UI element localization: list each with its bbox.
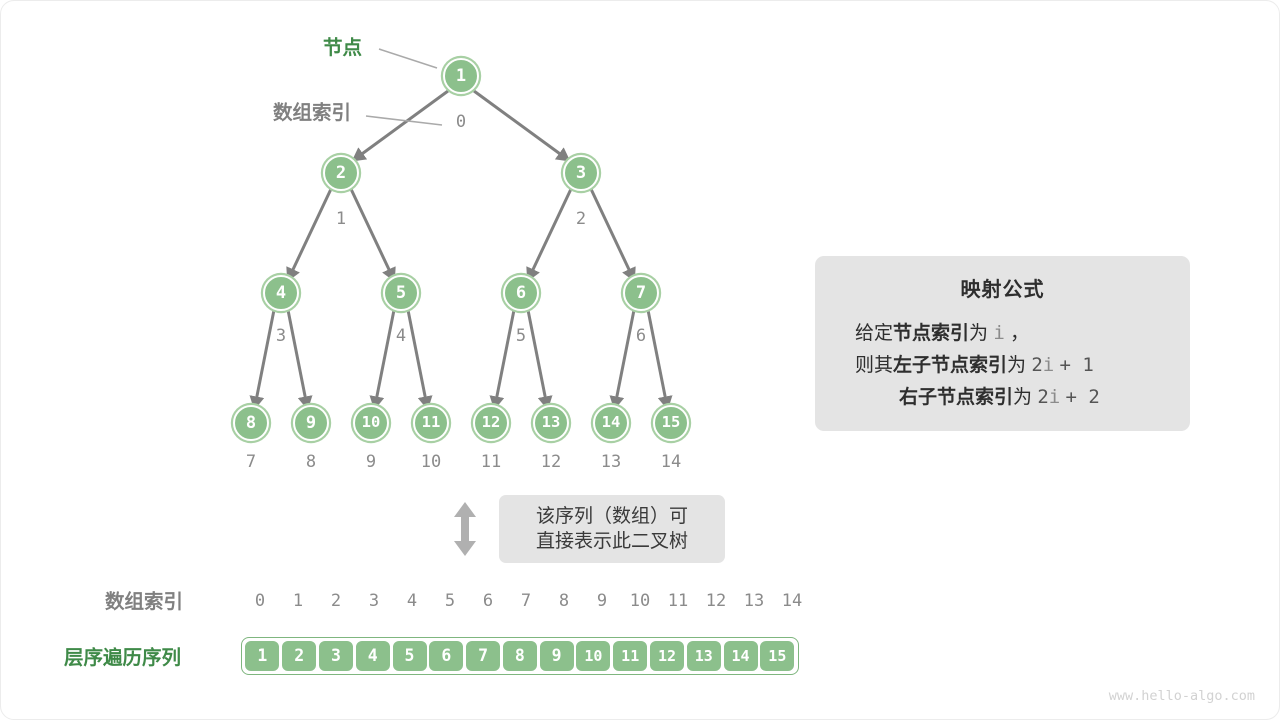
array-index-5: 5 xyxy=(431,593,469,610)
note-line-1: 该序列（数组）可 xyxy=(536,504,688,529)
formula-line3-mid: 为 xyxy=(1013,387,1032,408)
formula-line1-var: i xyxy=(993,322,1004,344)
tree-node-7[interactable]: 7 xyxy=(623,275,659,311)
array-index-2: 2 xyxy=(317,593,355,610)
tree-node-3[interactable]: 3 xyxy=(563,155,599,191)
formula-line2-bold: 左子节点索引 xyxy=(893,355,1007,376)
array-cell-2[interactable]: 3 xyxy=(318,640,354,672)
array-index-0: 0 xyxy=(241,593,279,610)
formula-line1-pre: 给定 xyxy=(855,323,893,344)
formula-line2-var: i xyxy=(1043,354,1054,376)
formula-line3-term: + 2 xyxy=(1066,386,1100,408)
tree-node-index-10: 10 xyxy=(411,454,451,471)
formula-line2-coeff: 2 xyxy=(1031,354,1042,376)
level-order-sequence-label: 层序遍历序列 xyxy=(64,649,181,669)
formula-line1-mid: 为 xyxy=(969,323,988,344)
tree-node-index-1: 1 xyxy=(321,211,361,228)
array-cell-11[interactable]: 12 xyxy=(649,640,685,672)
array-cell-0[interactable]: 1 xyxy=(244,640,280,672)
formula-line1-post: ， xyxy=(1010,323,1029,344)
tree-node-index-9: 9 xyxy=(351,454,391,471)
array-cell-13[interactable]: 14 xyxy=(723,640,759,672)
array-cell-14[interactable]: 15 xyxy=(759,640,795,672)
tree-node-index-13: 13 xyxy=(591,454,631,471)
array-cell-4[interactable]: 5 xyxy=(392,640,428,672)
formula-line2-term: + 1 xyxy=(1060,354,1094,376)
tree-node-9[interactable]: 9 xyxy=(293,405,329,441)
tree-node-index-3: 3 xyxy=(261,328,301,345)
diagram-canvas: 节点 数组索引 1 0 2 1 3 2 4 3 5 4 6 5 7 6 8 7 … xyxy=(0,0,1280,720)
tree-node-2[interactable]: 2 xyxy=(323,155,359,191)
tree-node-index-11: 11 xyxy=(471,454,511,471)
array-index-4: 4 xyxy=(393,593,431,610)
formula-title: 映射公式 xyxy=(833,273,1172,302)
tree-node-index-4: 4 xyxy=(381,328,421,345)
array-cell-5[interactable]: 6 xyxy=(428,640,464,672)
array-index-9: 9 xyxy=(583,593,621,610)
note-line-2: 直接表示此二叉树 xyxy=(536,529,688,554)
tree-node-14[interactable]: 14 xyxy=(593,405,629,441)
double-arrow-vertical-icon xyxy=(449,501,481,557)
formula-line3-bold: 右子节点索引 xyxy=(899,387,1013,408)
tree-node-11[interactable]: 11 xyxy=(413,405,449,441)
formula-line1-bold: 节点索引 xyxy=(893,323,969,344)
tree-node-index-6: 6 xyxy=(621,328,661,345)
tree-node-8[interactable]: 8 xyxy=(233,405,269,441)
note-box: 该序列（数组）可 直接表示此二叉树 xyxy=(499,495,725,563)
array-index-12: 12 xyxy=(697,593,735,610)
formula-line2-mid: 为 xyxy=(1007,355,1026,376)
array-cell-3[interactable]: 4 xyxy=(355,640,391,672)
tree-node-4[interactable]: 4 xyxy=(263,275,299,311)
array-index-1: 1 xyxy=(279,593,317,610)
callout-array-index-label: 数组索引 xyxy=(273,104,351,124)
tree-node-1[interactable]: 1 xyxy=(443,58,479,94)
formula-line-1: 给定节点索引为 i ， xyxy=(833,318,1172,350)
tree-node-13[interactable]: 13 xyxy=(533,405,569,441)
tree-node-10[interactable]: 10 xyxy=(353,405,389,441)
array-index-11: 11 xyxy=(659,593,697,610)
callout-node-label: 节点 xyxy=(323,39,362,59)
tree-node-index-8: 8 xyxy=(291,454,331,471)
formula-line-3: 右子节点索引为 2i + 2 xyxy=(833,382,1172,414)
array-cell-9[interactable]: 10 xyxy=(575,640,611,672)
tree-node-5[interactable]: 5 xyxy=(383,275,419,311)
mapping-formula-panel: 映射公式 给定节点索引为 i ， 则其左子节点索引为 2i + 1 右子节点索引… xyxy=(815,256,1190,431)
array-cell-1[interactable]: 2 xyxy=(281,640,317,672)
tree-node-index-5: 5 xyxy=(501,328,541,345)
array-cell-6[interactable]: 7 xyxy=(465,640,501,672)
array-cell-12[interactable]: 13 xyxy=(686,640,722,672)
array-index-10: 10 xyxy=(621,593,659,610)
array-cell-7[interactable]: 8 xyxy=(502,640,538,672)
tree-node-12[interactable]: 12 xyxy=(473,405,509,441)
tree-node-15[interactable]: 15 xyxy=(653,405,689,441)
tree-node-index-14: 14 xyxy=(651,454,691,471)
watermark: www.hello-algo.com xyxy=(1109,690,1255,704)
array-index-14: 14 xyxy=(773,593,811,610)
array-index-row-label: 数组索引 xyxy=(105,593,183,613)
tree-node-6[interactable]: 6 xyxy=(503,275,539,311)
tree-node-index-2: 2 xyxy=(561,211,601,228)
level-order-array: 1 2 3 4 5 6 7 8 9 10 11 12 13 14 15 xyxy=(241,637,799,675)
formula-line-2: 则其左子节点索引为 2i + 1 xyxy=(833,350,1172,382)
formula-line2-pre: 则其 xyxy=(855,355,893,376)
tree-node-index-7: 7 xyxy=(231,454,271,471)
array-index-8: 8 xyxy=(545,593,583,610)
array-cell-10[interactable]: 11 xyxy=(612,640,648,672)
array-index-7: 7 xyxy=(507,593,545,610)
formula-line3-var: i xyxy=(1049,386,1060,408)
array-index-6: 6 xyxy=(469,593,507,610)
array-cell-8[interactable]: 9 xyxy=(539,640,575,672)
tree-node-index-12: 12 xyxy=(531,454,571,471)
tree-node-index-0: 0 xyxy=(441,114,481,131)
array-index-3: 3 xyxy=(355,593,393,610)
formula-line3-coeff: 2 xyxy=(1037,386,1048,408)
array-index-13: 13 xyxy=(735,593,773,610)
